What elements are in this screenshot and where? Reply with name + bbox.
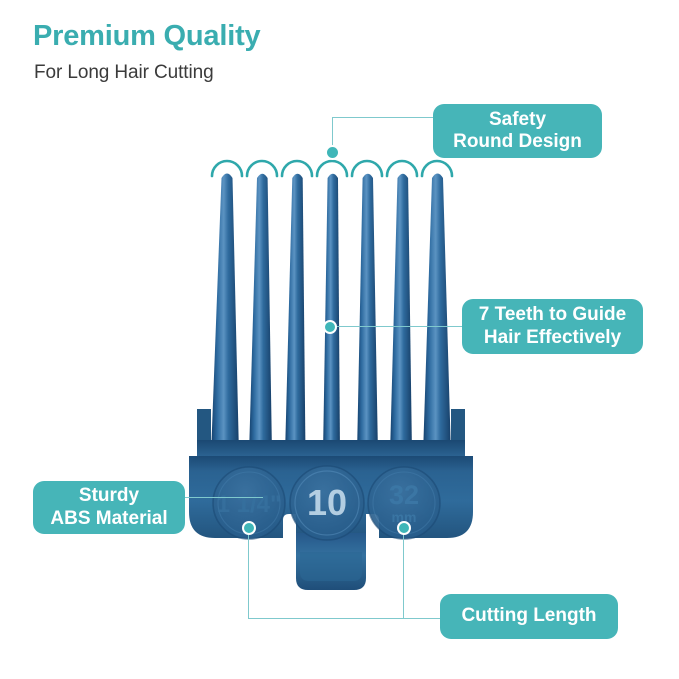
connector-abs-horizontal (185, 497, 263, 498)
connector-length-vertical-left (248, 528, 249, 619)
callout-7-teeth[interactable]: 7 Teeth to Guide Hair Effectively (462, 299, 643, 354)
callout-safety-line1: Safety (489, 109, 546, 131)
connector-safety-horizontal (332, 117, 434, 118)
safety-arc-3 (282, 161, 312, 176)
comb-tooth-2 (249, 174, 272, 455)
callout-teeth-line2: Hair Effectively (484, 327, 621, 349)
comb-tooth-1 (211, 174, 239, 456)
callout-length-line1: Cutting Length (461, 605, 596, 627)
callout-abs-line1: Sturdy (79, 485, 139, 507)
svg-text:10: 10 (307, 482, 347, 523)
callout-teeth-line1: 7 Teeth to Guide (479, 304, 626, 326)
callout-safety-round-design[interactable]: Safety Round Design (433, 104, 602, 158)
callout-cutting-length[interactable]: Cutting Length (440, 594, 618, 639)
safety-arc-5 (352, 161, 382, 176)
connector-dot-teeth (323, 320, 337, 334)
connector-length-horizontal (248, 618, 442, 619)
callout-sturdy-abs-material[interactable]: Sturdy ABS Material (33, 481, 185, 534)
comb-tab-inset (300, 552, 362, 581)
comb-tooth-7 (423, 174, 451, 456)
comb-base-upper (197, 440, 465, 456)
callout-safety-line2: Round Design (453, 131, 582, 153)
infographic-canvas: Premium Quality For Long Hair Cutting (0, 0, 679, 679)
safety-arc-group (212, 161, 452, 176)
svg-text:1 1/4": 1 1/4" (217, 491, 282, 518)
safety-arc-6 (387, 161, 417, 176)
callout-abs-line2: ABS Material (50, 508, 167, 530)
connector-dot-abs (242, 521, 256, 535)
marking-disc-center: 10 (290, 466, 364, 540)
svg-text:32: 32 (389, 480, 419, 510)
comb-tooth-5 (357, 174, 378, 455)
safety-arc-4 (317, 161, 347, 176)
comb-tooth-3 (285, 174, 306, 455)
connector-dot-length-right (397, 521, 411, 535)
comb-tooth-6 (390, 174, 412, 455)
comb-teeth-group (211, 174, 451, 456)
comb-tooth-4 (323, 174, 340, 455)
connector-teeth-horizontal (330, 326, 463, 327)
connector-dot-safety (325, 145, 340, 160)
connector-length-vertical-right (403, 528, 404, 619)
